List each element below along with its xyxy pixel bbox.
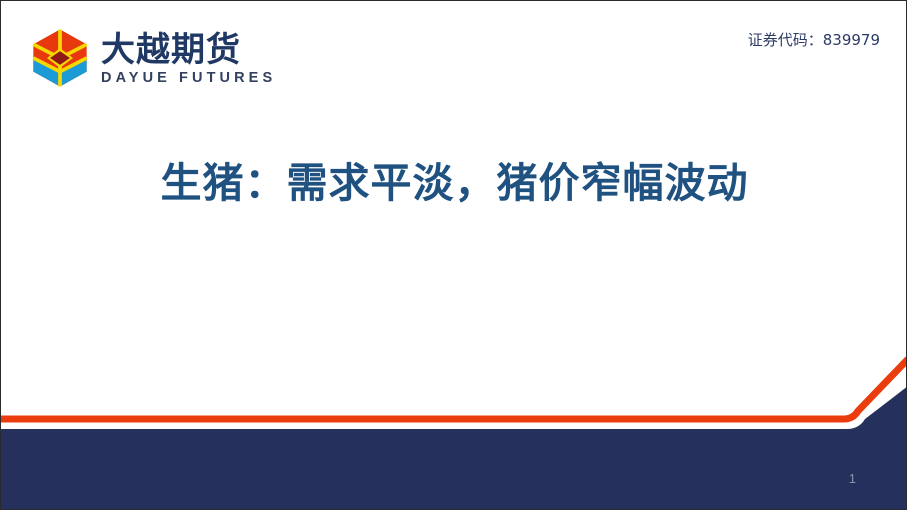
footer-orange-accent [1, 359, 907, 419]
dayue-cube-logo-icon [29, 27, 91, 89]
presentation-slide: 大越期货 DAYUE FUTURES 证券代码：839979 生猪：需求平淡，猪… [0, 0, 907, 510]
stock-code-label: 证券代码：839979 [748, 30, 880, 50]
title-block: 生猪：需求平淡，猪价窄幅波动 [1, 156, 907, 210]
page-title: 生猪：需求平淡，猪价窄幅波动 [161, 156, 749, 210]
brand-name-cn: 大越期货 [101, 31, 276, 69]
footer-decoration [1, 341, 907, 510]
brand-lockup: 大越期货 DAYUE FUTURES [29, 27, 276, 89]
brand-text-block: 大越期货 DAYUE FUTURES [101, 29, 276, 87]
slide-header: 大越期货 DAYUE FUTURES 证券代码：839979 [1, 1, 907, 106]
page-number: 1 [849, 471, 856, 487]
footer-navy-band [1, 386, 907, 510]
brand-name-en: DAYUE FUTURES [101, 70, 276, 87]
